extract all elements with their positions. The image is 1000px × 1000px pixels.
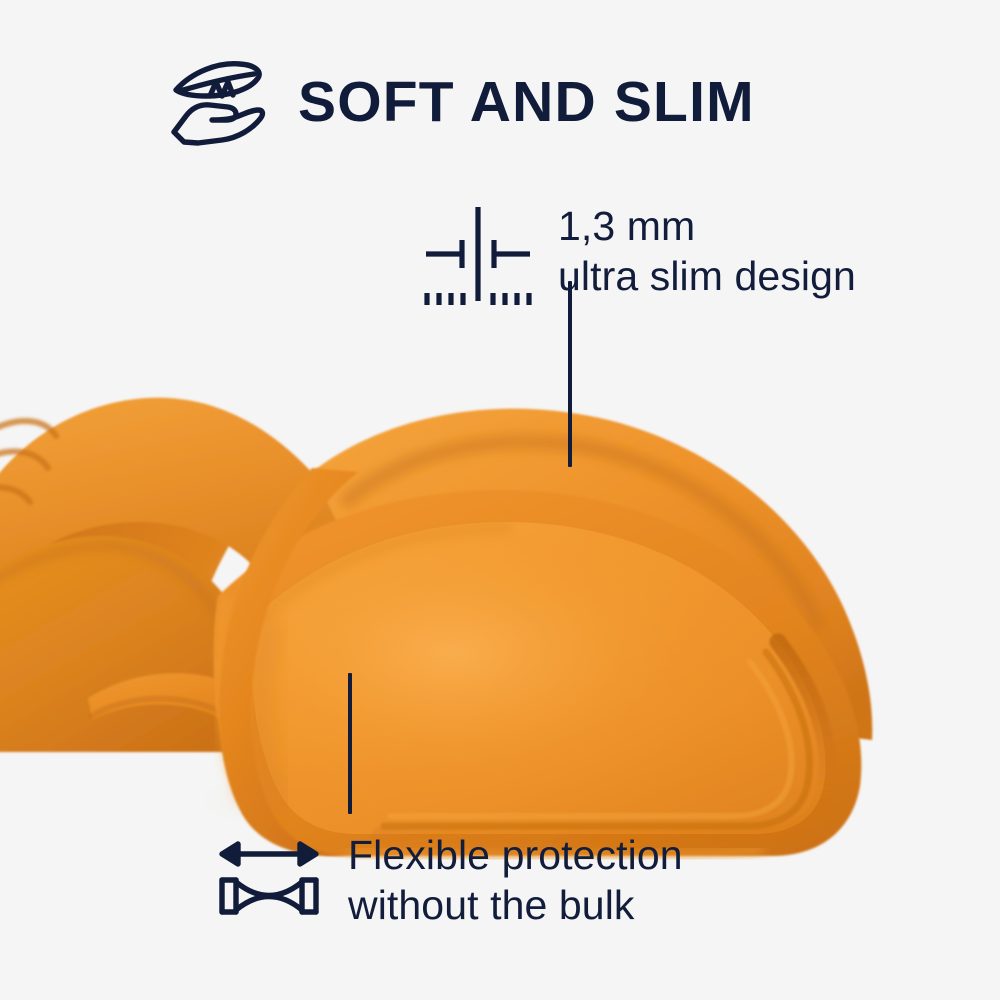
callout-thickness: 1,3 mm ultra slim design (422, 205, 856, 313)
stretch-arrows-icon (214, 838, 324, 918)
callout-thickness-line1: 1,3 mm (558, 201, 856, 251)
callout-flexibility-text: Flexible protection without the bulk (348, 830, 683, 930)
leader-line-flexibility (348, 673, 352, 814)
callout-flexibility-line1: Flexible protection (348, 830, 683, 880)
callout-thickness-line2: ultra slim design (558, 251, 856, 301)
case-front-edge (219, 468, 358, 856)
case-left-arch (0, 398, 390, 752)
feather-in-hand-icon (170, 58, 266, 146)
product-illustration (0, 300, 960, 860)
callout-thickness-text: 1,3 mm ultra slim design (558, 201, 856, 301)
case-fold-slot (88, 673, 320, 770)
header: SOFT AND SLIM (170, 58, 755, 146)
page-title: SOFT AND SLIM (298, 74, 755, 131)
case-right-sweep (312, 409, 872, 740)
product-feature-image: SOFT AND SLIM (0, 0, 1000, 1000)
callout-flexibility: Flexible protection without the bulk (214, 832, 683, 930)
case-interior (213, 490, 861, 858)
leader-line-thickness (568, 281, 572, 467)
thickness-gauge-icon (422, 205, 534, 313)
callout-flexibility-line2: without the bulk (348, 880, 683, 930)
